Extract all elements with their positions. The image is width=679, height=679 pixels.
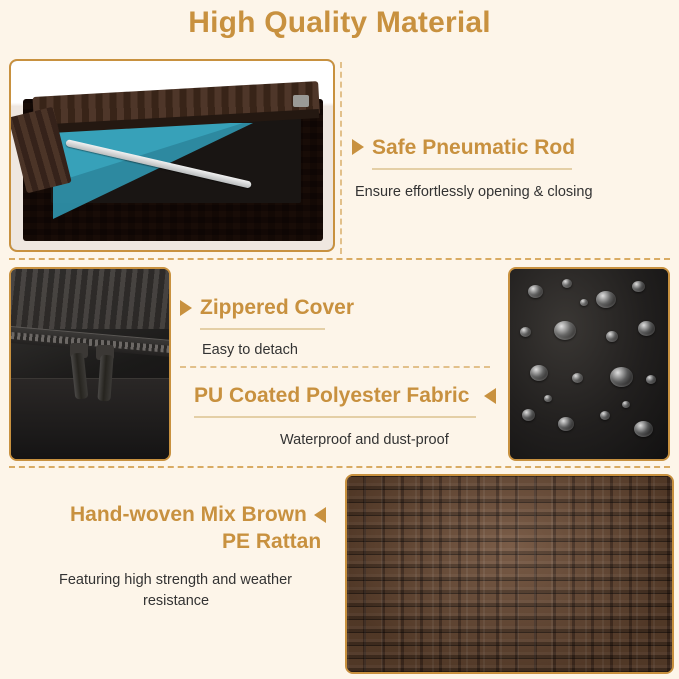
feature-subtext-rattan-line1: Featuring high strength and weather	[59, 570, 292, 591]
feature-subtext-rattan-line2: resistance	[143, 591, 209, 612]
water-droplet	[558, 417, 574, 431]
water-droplet	[562, 279, 572, 288]
water-droplet	[634, 421, 653, 437]
water-droplet	[622, 401, 630, 408]
triangle-left-icon-pu-fabric	[484, 388, 496, 404]
feature-heading-pneumatic-rod: Safe Pneumatic Rod	[372, 136, 575, 160]
triangle-right-icon-zipper	[180, 300, 192, 316]
page-title: High Quality Material	[0, 6, 679, 40]
water-droplet	[572, 373, 583, 383]
water-droplet	[596, 291, 616, 308]
water-droplet	[646, 375, 656, 384]
product-infographic: High Quality Material Safe Pneumatic Rod…	[0, 0, 679, 679]
heading-underline-pu-fabric	[194, 416, 476, 418]
water-droplet	[544, 395, 552, 402]
water-droplet	[554, 321, 576, 340]
photo-pu-coated-fabric	[508, 267, 670, 461]
photo-zippered-cover	[9, 267, 171, 461]
triangle-right-icon-rod	[352, 139, 364, 155]
water-droplet	[600, 411, 610, 420]
feature-subtext-pneumatic-rod: Ensure effortlessly opening & closing	[355, 182, 655, 203]
divider-vertical-row1	[340, 62, 342, 254]
water-droplet	[580, 299, 588, 306]
photo-pe-rattan-weave	[345, 474, 674, 674]
water-droplet	[520, 327, 531, 337]
lid-hinge	[293, 95, 309, 107]
triangle-left-icon-rattan	[314, 507, 326, 523]
feature-subtext-zippered-cover: Easy to detach	[202, 340, 298, 361]
rattan-top-edge	[11, 269, 169, 329]
cover-fabric-body	[11, 378, 169, 459]
feature-heading-rattan-line2: PE Rattan	[222, 530, 321, 554]
water-droplet	[530, 365, 548, 381]
heading-underline-rod	[372, 168, 572, 170]
photo-pneumatic-rod	[9, 59, 335, 252]
water-droplet	[522, 409, 535, 421]
heading-underline-zipper	[200, 328, 325, 330]
divider-row-1	[9, 258, 670, 260]
divider-row-2	[9, 466, 670, 468]
rattan-lighting-overlay	[347, 476, 672, 672]
feature-heading-zippered-cover: Zippered Cover	[200, 296, 354, 320]
water-droplet	[632, 281, 645, 292]
feature-heading-pu-fabric: PU Coated Polyester Fabric	[194, 384, 469, 408]
water-droplet	[610, 367, 633, 387]
water-droplet	[638, 321, 655, 336]
feature-subtext-pu-fabric: Waterproof and dust-proof	[280, 430, 449, 451]
water-droplet	[528, 285, 543, 298]
water-droplet	[606, 331, 618, 342]
feature-heading-rattan-line1: Hand-woven Mix Brown	[70, 503, 307, 527]
divider-mid-row-2	[180, 366, 490, 368]
